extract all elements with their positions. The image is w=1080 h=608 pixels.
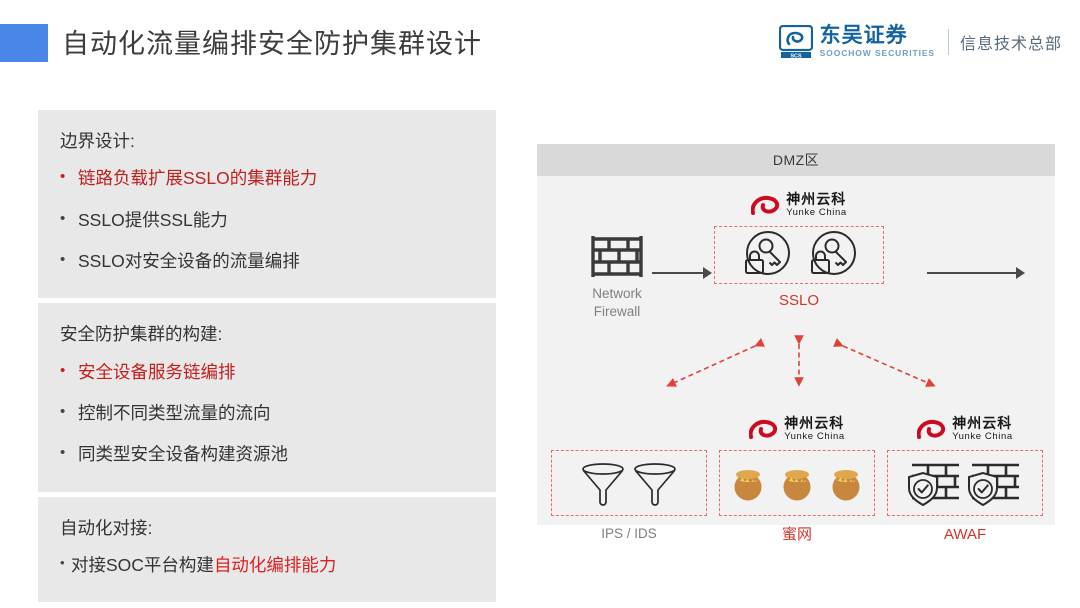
funnel-icon: [580, 460, 626, 506]
vendor-name-en: Yunke China: [786, 207, 846, 219]
honey-pot-icon: [827, 464, 865, 502]
soochow-swirl-icon: SCS: [779, 25, 813, 59]
brand-department: 信息技术总部: [960, 30, 1062, 54]
yunke-swirl-icon: [917, 419, 947, 441]
bullet-label-highlight: 自动化编排能力: [214, 555, 337, 575]
bullet-item: • 链路负载扩展SSLO的集群能力: [38, 158, 496, 199]
bullet-label: SSLO对安全设备的流量编排: [78, 249, 300, 274]
shield-wall-icon: [966, 459, 1024, 507]
vendor-name-en: Yunke China: [952, 431, 1012, 443]
honey-pot-icon: [729, 464, 767, 502]
block-heading: 安全防护集群的构建:: [38, 317, 496, 351]
vendor-name-en: Yunke China: [784, 431, 844, 443]
bullet-label: 链路负载扩展SSLO的集群能力: [78, 166, 317, 191]
bullet-label: 对接SOC平台构建自动化编排能力: [71, 553, 336, 578]
funnel-icon: [632, 460, 678, 506]
bullet-dot-icon: •: [60, 442, 78, 465]
left-content-column: 边界设计: • 链路负载扩展SSLO的集群能力 • SSLO提供SSL能力 • …: [38, 110, 496, 602]
security-device-row: IPS / IDS 神州云科 Yunke China: [551, 416, 1043, 545]
bullet-label: SSLO提供SSL能力: [78, 208, 228, 233]
firewall-label-line2: Firewall: [557, 303, 677, 321]
vendor-name-cn: 神州云科: [952, 416, 1012, 431]
bullet-item: • SSLO对安全设备的流量编排: [38, 241, 496, 282]
bullet-item: • SSLO提供SSL能力: [38, 200, 496, 241]
bullet-dot-icon: •: [60, 249, 78, 272]
yunke-swirl-icon: [749, 419, 779, 441]
honeynet-device-group: [719, 450, 875, 516]
vendor-text: 神州云科 Yunke China: [786, 192, 846, 220]
dmz-zone-header: DMZ区: [537, 144, 1055, 176]
vendor-logo: 神州云科 Yunke China: [719, 416, 875, 444]
bullet-item: • 控制不同类型流量的流向: [38, 393, 496, 434]
key-lock-icon: [739, 228, 793, 282]
vendor-text: 神州云科 Yunke China: [952, 416, 1012, 444]
awaf-node: 神州云科 Yunke China: [887, 416, 1043, 545]
honeynet-label: 蜜网: [719, 525, 875, 545]
bullet-dot-icon: •: [60, 553, 71, 573]
brand-divider: [948, 29, 949, 55]
block-heading: 自动化对接:: [38, 511, 496, 545]
shield-wall-icon: [906, 459, 964, 507]
page-title: 自动化流量编排安全防护集群设计: [62, 22, 482, 61]
ips-ids-device-group: [551, 450, 707, 516]
slide-root: 自动化流量编排安全防护集群设计 SCS 东吴证券 SOOCHOW SECURIT…: [0, 0, 1080, 608]
bullet-dot-icon: •: [60, 166, 78, 189]
ips-ids-node: IPS / IDS: [551, 416, 707, 545]
content-block: 边界设计: • 链路负载扩展SSLO的集群能力 • SSLO提供SSL能力 • …: [38, 110, 496, 298]
brand-name-block: 东吴证券 SOOCHOW SECURITIES: [820, 25, 935, 59]
bullet-item: • 对接SOC平台构建自动化编排能力: [38, 545, 496, 586]
block-heading: 边界设计:: [38, 124, 496, 158]
key-lock-icon: [805, 228, 859, 282]
sslo-label: SSLO: [714, 291, 884, 311]
brick-wall-icon: [590, 267, 644, 284]
honeynet-node: 神州云科 Yunke China: [719, 416, 875, 545]
content-block: 安全防护集群的构建: • 安全设备服务链编排 • 控制不同类型流量的流向 • 同…: [38, 303, 496, 491]
inbound-arrow-icon: [652, 267, 712, 279]
bullet-item: • 同类型安全设备构建资源池: [38, 434, 496, 475]
bullet-dot-icon: •: [60, 401, 78, 424]
title-accent-mark: [0, 24, 48, 62]
vendor-logo: 神州云科 Yunke China: [887, 416, 1043, 444]
vendor-name-cn: 神州云科: [786, 192, 846, 207]
vendor-logo: 神州云科 Yunke China: [714, 192, 884, 220]
bullet-label: 控制不同类型流量的流向: [78, 401, 271, 426]
honey-pot-icon: [778, 464, 816, 502]
sslo-device-group: [714, 226, 884, 284]
brand-name-en: SOOCHOW SECURITIES: [820, 48, 935, 59]
brand-name-cn: 东吴证券: [820, 25, 935, 47]
firewall-label-line1: Network: [557, 285, 677, 303]
bullet-label: 安全设备服务链编排: [78, 360, 236, 385]
yunke-swirl-icon: [751, 195, 781, 217]
bullet-label-plain: 对接SOC平台构建: [71, 555, 214, 575]
svg-text:SCS: SCS: [790, 53, 801, 59]
bullet-item: • 安全设备服务链编排: [38, 352, 496, 393]
dashed-double-arrow-icon: [843, 346, 935, 386]
vendor-name-cn: 神州云科: [784, 416, 844, 431]
awaf-device-group: [887, 450, 1043, 516]
brand-logo: SCS 东吴证券 SOOCHOW SECURITIES 信息技术总部: [779, 22, 1062, 62]
firewall-label: Network Firewall: [557, 285, 677, 321]
outbound-arrow-icon: [927, 267, 1025, 279]
ips-ids-label: IPS / IDS: [551, 525, 707, 543]
awaf-label: AWAF: [887, 525, 1043, 545]
content-block: 自动化对接: • 对接SOC平台构建自动化编排能力: [38, 497, 496, 603]
vendor-text: 神州云科 Yunke China: [784, 416, 844, 444]
bullet-dot-icon: •: [60, 360, 78, 383]
dmz-zone-label: DMZ区: [773, 150, 819, 170]
bullet-dot-icon: •: [60, 208, 78, 231]
sslo-node: 神州云科 Yunke China: [714, 192, 884, 311]
architecture-diagram: DMZ区: [537, 144, 1055, 525]
dashed-double-arrow-icon: [667, 346, 755, 386]
bullet-label: 同类型安全设备构建资源池: [78, 442, 288, 467]
